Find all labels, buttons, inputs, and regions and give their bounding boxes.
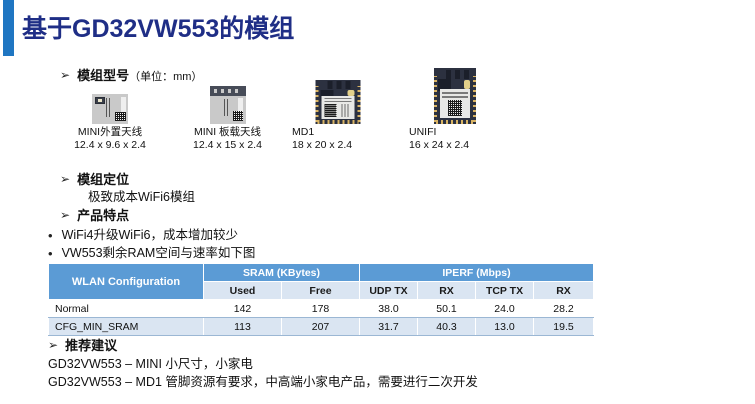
feature-bullet-1-label: VW553剩余RAM空间与速率如下图: [62, 246, 256, 261]
arrow-bullet-icon: ➢: [60, 172, 70, 187]
pcb-antenna-icon: [324, 81, 354, 89]
sticker-vertical-text: [342, 104, 351, 117]
table-col-udp-tx: UDP TX: [360, 282, 418, 300]
table-row: Normal 142 178 38.0 50.1 24.0 28.2: [49, 300, 594, 318]
section-heading-recommendation-label: 推荐建议: [65, 338, 117, 353]
castellated-pads-right-icon: [473, 76, 476, 122]
castellated-pads-left-icon: [434, 76, 437, 122]
module-pcb-light-icon: [210, 86, 246, 124]
sticker-text-line: [324, 98, 351, 100]
sticker-text-line: [324, 101, 351, 103]
module-caption-0: MINI外置天线 12.4 x 9.6 x 2.4: [60, 126, 160, 152]
castellated-pads-left-icon: [316, 86, 319, 122]
table-col-used: Used: [204, 282, 282, 300]
table-cell-value: 28.2: [534, 300, 594, 318]
table-col-udp-rx: RX: [418, 282, 476, 300]
table-cell-row-name: Normal: [49, 300, 204, 318]
module-image-0: [92, 94, 128, 124]
module-card-2: MD1 18 x 20 x 2.4: [288, 72, 388, 162]
label-sticker-icon: [440, 89, 470, 118]
pcb-antenna-icon: [442, 70, 470, 78]
section-heading-positioning: ➢ 模组定位: [60, 172, 129, 187]
module-card-3: UNIFI 16 x 24 x 2.4: [405, 72, 505, 162]
section-heading-positioning-label: 模组定位: [77, 172, 129, 187]
crystal-icon: [464, 80, 470, 88]
table-cell-value: 19.5: [534, 318, 594, 336]
silkscreen-icon: [224, 99, 230, 116]
section-heading-features-label: 产品特点: [77, 208, 129, 223]
table-cell-value: 40.3: [418, 318, 476, 336]
dot-bullet-icon: •: [48, 228, 53, 243]
qr-code-icon: [233, 111, 244, 121]
castellated-pads-right-icon: [357, 86, 360, 122]
module-name-0: MINI外置天线: [78, 126, 142, 138]
table-group-header-iperf: IPERF (Mbps): [360, 264, 594, 282]
silkscreen-icon: [106, 98, 112, 117]
module-image-3: [434, 68, 476, 124]
dot-bullet-icon: •: [48, 246, 53, 261]
label-sticker-icon: [322, 96, 354, 119]
table-row: CFG_MIN_SRAM 113 207 31.7 40.3 13.0 19.5: [49, 318, 594, 336]
module-dims-1: 12.4 x 15 x 2.4: [175, 139, 280, 152]
pcb-antenna-icon: [210, 86, 246, 96]
table-cell-value: 24.0: [476, 300, 534, 318]
performance-table: WLAN Configuration SRAM (KBytes) IPERF (…: [48, 263, 594, 336]
qr-code-icon: [324, 104, 336, 117]
feature-bullet-1: • VW553剩余RAM空间与速率如下图: [48, 246, 255, 261]
table-col-tcp-tx: TCP TX: [476, 282, 534, 300]
module-image-1: [210, 86, 246, 124]
castellated-pads-bottom-icon: [436, 120, 475, 124]
section-heading-features: ➢ 产品特点: [60, 208, 129, 223]
table-cell-value: 207: [282, 318, 360, 336]
qr-code-icon: [448, 100, 463, 116]
positioning-detail: 极致成本WiFi6模组: [88, 190, 195, 205]
section-heading-recommendation: ➢ 推荐建议: [48, 338, 117, 353]
module-pcb-dark-icon: [434, 68, 476, 124]
table-cell-value: 38.0: [360, 300, 418, 318]
table-col-free: Free: [282, 282, 360, 300]
recommendation-line-0: GD32VW553 – MINI 小尺寸，小家电: [48, 357, 253, 372]
table-cell-value: 142: [204, 300, 282, 318]
module-name-2: MD1: [292, 126, 314, 138]
chip-icon: [95, 97, 104, 105]
arrow-bullet-icon: ➢: [48, 338, 58, 353]
module-caption-1: MINI 板载天线 12.4 x 15 x 2.4: [175, 126, 280, 152]
page-title: 基于GD32VW553的模组: [22, 9, 294, 45]
recommendation-line-1: GD32VW553 – MD1 管脚资源有要求，中高端小家电产品，需要进行二次开…: [48, 375, 478, 390]
module-caption-2: MD1 18 x 20 x 2.4: [288, 126, 392, 152]
castellated-pads-bottom-icon: [317, 120, 358, 124]
module-dims-2: 18 x 20 x 2.4: [292, 139, 392, 152]
feature-bullet-0: • WiFi4升级WiFi6，成本增加较少: [48, 228, 238, 243]
table-cell-value: 50.1: [418, 300, 476, 318]
module-gallery: MINI外置天线 12.4 x 9.6 x 2.4 MINI 板载天线 12.4…: [60, 72, 530, 162]
module-image-2: [316, 80, 361, 124]
table-cell-value: 13.0: [476, 318, 534, 336]
module-card-1: MINI 板载天线 12.4 x 15 x 2.4: [175, 72, 280, 162]
table-cell-value: 31.7: [360, 318, 418, 336]
module-name-3: UNIFI: [409, 126, 436, 138]
sticker-text-line: [442, 92, 467, 94]
feature-bullet-0-label: WiFi4升级WiFi6，成本增加较少: [62, 228, 238, 243]
table-row-header-label: WLAN Configuration: [49, 264, 204, 300]
table-group-header-sram: SRAM (KBytes): [204, 264, 360, 282]
module-caption-3: UNIFI 16 x 24 x 2.4: [405, 126, 509, 152]
module-name-1: MINI 板载天线: [194, 126, 261, 138]
module-dims-0: 12.4 x 9.6 x 2.4: [60, 139, 160, 152]
table-cell-row-name: CFG_MIN_SRAM: [49, 318, 204, 336]
qr-code-icon: [115, 112, 126, 122]
module-pcb-light-icon: [92, 94, 128, 124]
module-dims-3: 16 x 24 x 2.4: [409, 139, 509, 152]
sticker-text-line: [442, 96, 467, 98]
title-accent-stripe: [3, 0, 14, 56]
table-cell-value: 178: [282, 300, 360, 318]
module-card-0: MINI外置天线 12.4 x 9.6 x 2.4: [60, 72, 160, 162]
table-cell-value: 113: [204, 318, 282, 336]
slide-canvas: 基于GD32VW553的模组 ➢ 模组型号（单位：mm） MINI外置天线 12…: [0, 0, 755, 404]
arrow-bullet-icon: ➢: [60, 208, 70, 223]
table-group-header-row: WLAN Configuration SRAM (KBytes) IPERF (…: [49, 264, 594, 282]
module-pcb-dark-icon: [316, 80, 361, 124]
table-col-tcp-rx: RX: [534, 282, 594, 300]
